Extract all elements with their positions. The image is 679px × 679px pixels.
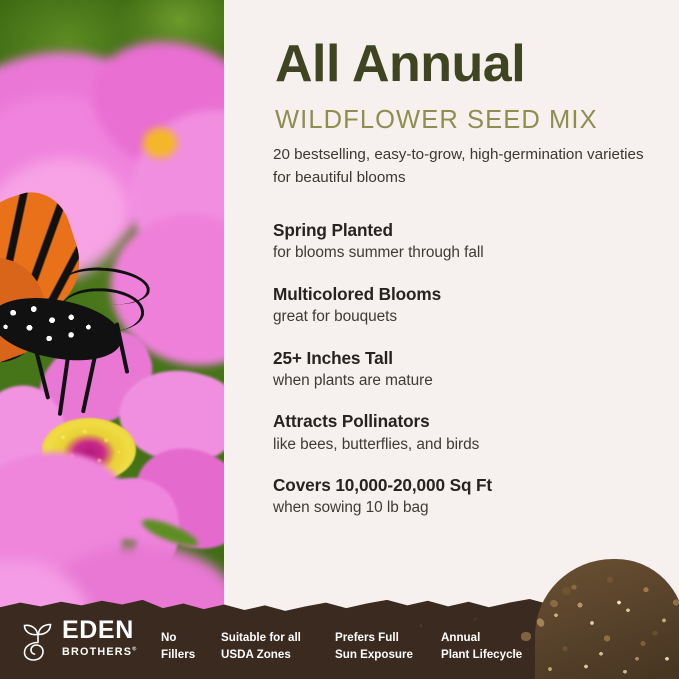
feature-heading: Spring Planted xyxy=(273,219,673,242)
product-subtitle: WILDFLOWER SEED MIX xyxy=(275,106,675,134)
footer-column-line1: Prefers Full xyxy=(335,630,413,646)
page-title: All Annual xyxy=(275,38,675,91)
footer-attributes: No Fillers Suitable for all USDA Zones P… xyxy=(0,587,679,679)
feature-heading: Covers 10,000-20,000 Sq Ft xyxy=(273,474,673,497)
product-photo xyxy=(0,0,224,679)
footer-column-line1: Suitable for all xyxy=(221,630,301,646)
feature-subtext: like bees, butterflies, and birds xyxy=(273,434,673,456)
footer-column-usda-zones: Suitable for all USDA Zones xyxy=(221,630,301,663)
footer-column-line2: Sun Exposure xyxy=(335,647,413,663)
butterfly-icon xyxy=(0,196,194,426)
feature-subtext: when sowing 10 lb bag xyxy=(273,497,673,519)
list-item: Covers 10,000-20,000 Sq Ft when sowing 1… xyxy=(273,474,673,519)
feature-subtext: great for bouquets xyxy=(273,306,673,328)
footer-column-plant-lifecycle: Annual Plant Lifecycle xyxy=(441,630,522,663)
footer-column-line2: Fillers xyxy=(161,647,195,663)
butterfly-leg xyxy=(58,354,71,416)
flower-center-icon xyxy=(143,128,177,158)
product-description: 20 bestselling, easy-to-grow, high-germi… xyxy=(273,144,653,189)
feature-heading: Multicolored Blooms xyxy=(273,283,673,306)
feature-subtext: when plants are mature xyxy=(273,370,673,392)
list-item: Multicolored Blooms great for bouquets xyxy=(273,283,673,328)
footer-column-sun-exposure: Prefers Full Sun Exposure xyxy=(335,630,413,663)
list-item: Attracts Pollinators like bees, butterfl… xyxy=(273,410,673,455)
feature-subtext: for blooms summer through fall xyxy=(273,242,673,264)
feature-list: Spring Planted for blooms summer through… xyxy=(273,219,673,538)
footer-column-line2: Plant Lifecycle xyxy=(441,647,522,663)
footer-column-no-fillers: No Fillers xyxy=(161,630,195,663)
feature-heading: 25+ Inches Tall xyxy=(273,347,673,370)
feature-heading: Attracts Pollinators xyxy=(273,410,673,433)
footer-column-line2: USDA Zones xyxy=(221,647,301,663)
product-image-card: All Annual WILDFLOWER SEED MIX 20 bestse… xyxy=(0,0,679,679)
list-item: 25+ Inches Tall when plants are mature xyxy=(273,347,673,392)
footer-column-line1: No xyxy=(161,630,195,646)
footer-column-line1: Annual xyxy=(441,630,522,646)
list-item: Spring Planted for blooms summer through… xyxy=(273,219,673,264)
